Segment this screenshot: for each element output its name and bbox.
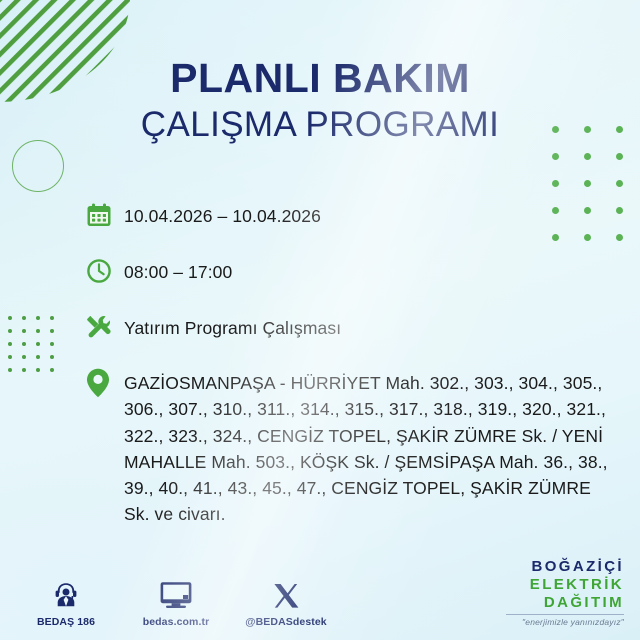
- tools-icon: [86, 312, 124, 350]
- maintenance-date: 10.04.2026 – 10.04.2026: [124, 200, 321, 229]
- maintenance-details: 10.04.2026 – 10.04.2026 08:00 – 17:00: [86, 200, 618, 528]
- brand-line-dagitim: DAĞITIM: [506, 595, 624, 610]
- monitor-website-icon: [134, 576, 218, 610]
- detail-row-location: GAZİOSMANPAŞA - HÜRRİYET Mah. 302., 303.…: [86, 366, 618, 528]
- brand-tagline: "enerjimizle yanınızdayız": [506, 618, 624, 627]
- maintenance-location: GAZİOSMANPAŞA - HÜRRİYET Mah. 302., 303.…: [124, 366, 618, 528]
- circle-outline-decoration: [12, 140, 64, 192]
- maintenance-time: 08:00 – 17:00: [124, 256, 232, 285]
- poster-footer: BEDAŞ 186 bedas.com.tr: [0, 552, 640, 640]
- bedas-logo: BOĞAZİÇİ ELEKTRİK DAĞITIM "enerjimizle y…: [506, 559, 624, 627]
- location-pin-icon: [86, 366, 124, 404]
- contact-call-center[interactable]: BEDAŞ 186: [24, 576, 108, 628]
- clock-icon: [86, 256, 124, 294]
- contact-x-account[interactable]: @BEDASdestek: [244, 576, 328, 628]
- brand-divider: [506, 614, 624, 615]
- page-subtitle: ÇALIŞMA PROGRAMI: [0, 105, 640, 144]
- poster-title-block: PLANLI BAKIM ÇALIŞMA PROGRAMI: [0, 58, 640, 144]
- detail-row-time: 08:00 – 17:00: [86, 256, 618, 294]
- headset-support-icon: [24, 576, 108, 610]
- detail-row-date: 10.04.2026 – 10.04.2026: [86, 200, 618, 238]
- contact-x-label: @BEDASdestek: [244, 616, 328, 628]
- page-title: PLANLI BAKIM: [0, 58, 640, 99]
- dot-grid-left-decoration: [8, 316, 58, 372]
- brand-line-bogazici: BOĞAZİÇİ: [506, 559, 624, 574]
- planned-maintenance-poster: PLANLI BAKIM ÇALIŞMA PROGRAMI: [0, 0, 640, 640]
- contact-website[interactable]: bedas.com.tr: [134, 576, 218, 628]
- contact-website-label: bedas.com.tr: [134, 616, 218, 628]
- x-twitter-icon: [244, 576, 328, 610]
- detail-row-worktype: Yatırım Programı Çalışması: [86, 312, 618, 350]
- maintenance-work-type: Yatırım Programı Çalışması: [124, 312, 341, 341]
- contact-call-center-label: BEDAŞ 186: [24, 616, 108, 628]
- calendar-icon: [86, 200, 124, 238]
- contact-channels: BEDAŞ 186 bedas.com.tr: [24, 576, 328, 628]
- brand-line-elektrik: ELEKTRİK: [506, 577, 624, 592]
